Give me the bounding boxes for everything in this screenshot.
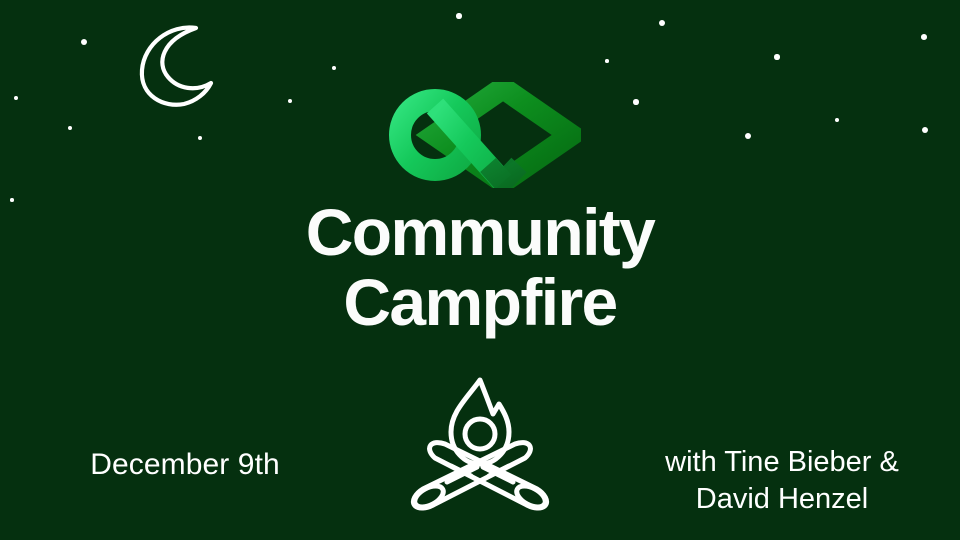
event-date: December 9th — [40, 446, 330, 484]
star-dot — [835, 118, 839, 122]
star-dot — [288, 99, 292, 103]
hosts-line-1: with Tine Bieber & — [636, 444, 928, 481]
star-dot — [659, 20, 666, 27]
star-dot — [745, 133, 751, 139]
title-line-2: Campfire — [0, 268, 960, 338]
star-dot — [456, 13, 461, 18]
star-dot — [605, 59, 609, 63]
title-line-1: Community — [0, 198, 960, 268]
infinity-loop-logo — [385, 82, 581, 188]
star-dot — [198, 136, 203, 141]
event-hosts: with Tine Bieber & David Henzel — [636, 444, 928, 518]
page-title: Community Campfire — [0, 198, 960, 338]
star-dot — [332, 66, 336, 70]
hosts-line-2: David Henzel — [636, 481, 928, 518]
star-dot — [14, 96, 18, 100]
star-dot — [921, 34, 927, 40]
star-dot — [68, 126, 73, 131]
star-dot — [81, 39, 87, 45]
star-dot — [922, 127, 928, 133]
star-dot — [774, 54, 779, 59]
campfire-icon — [405, 372, 555, 524]
slide-canvas: Community Campfire Decemb — [0, 0, 960, 540]
crescent-moon-icon — [126, 22, 218, 110]
star-dot — [633, 99, 638, 104]
